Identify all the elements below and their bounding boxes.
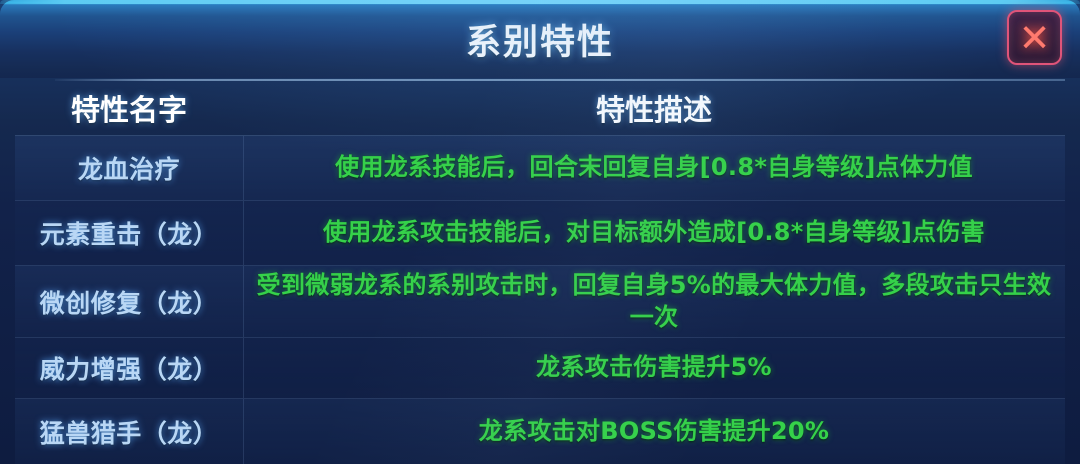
- table-row[interactable]: 元素重击（龙） 使用龙系攻击技能后，对目标额外造成[0.8*自身等级]点伤害: [15, 200, 1065, 265]
- trait-name: 微创修复（龙）: [15, 284, 243, 320]
- table-header-row: 特性名字 特性描述: [15, 81, 1065, 135]
- dialog-titlebar: 系别特性: [0, 0, 1080, 78]
- trait-description: 龙系攻击伤害提升5%: [243, 352, 1065, 384]
- trait-description: 受到微弱龙系的系别攻击时，回复自身5%的最大体力值，多段攻击只生效一次: [243, 270, 1065, 333]
- series-trait-dialog: 系别特性 ✕ 特性名字 特性描述 龙血治疗 使用龙系技能后，回合末回复自身[0.…: [0, 0, 1080, 464]
- traits-table: 特性名字 特性描述 龙血治疗 使用龙系技能后，回合末回复自身[0.8*自身等级]…: [15, 78, 1065, 464]
- table-row[interactable]: 猛兽猎手（龙） 龙系攻击对BOSS伤害提升20%: [15, 398, 1065, 464]
- table-row[interactable]: 威力增强（龙） 龙系攻击伤害提升5%: [15, 337, 1065, 398]
- close-button[interactable]: ✕: [1007, 10, 1062, 65]
- table-row[interactable]: 龙血治疗 使用龙系技能后，回合末回复自身[0.8*自身等级]点体力值: [15, 135, 1065, 200]
- trait-description: 龙系攻击对BOSS伤害提升20%: [243, 416, 1065, 448]
- trait-description: 使用龙系攻击技能后，对目标额外造成[0.8*自身等级]点伤害: [243, 217, 1065, 249]
- trait-name: 元素重击（龙）: [15, 215, 243, 251]
- page-title: 系别特性: [0, 14, 1080, 65]
- column-header-trait-name: 特性名字: [15, 87, 243, 129]
- table-row[interactable]: 微创修复（龙） 受到微弱龙系的系别攻击时，回复自身5%的最大体力值，多段攻击只生…: [15, 265, 1065, 337]
- trait-description: 使用龙系技能后，回合末回复自身[0.8*自身等级]点体力值: [243, 152, 1065, 184]
- table-body: 龙血治疗 使用龙系技能后，回合末回复自身[0.8*自身等级]点体力值 元素重击（…: [15, 135, 1065, 464]
- trait-name: 龙血治疗: [15, 150, 243, 186]
- trait-name: 威力增强（龙）: [15, 350, 243, 386]
- trait-name: 猛兽猎手（龙）: [15, 414, 243, 450]
- close-x-icon: ✕: [1009, 12, 1060, 63]
- column-header-trait-description: 特性描述: [243, 87, 1065, 129]
